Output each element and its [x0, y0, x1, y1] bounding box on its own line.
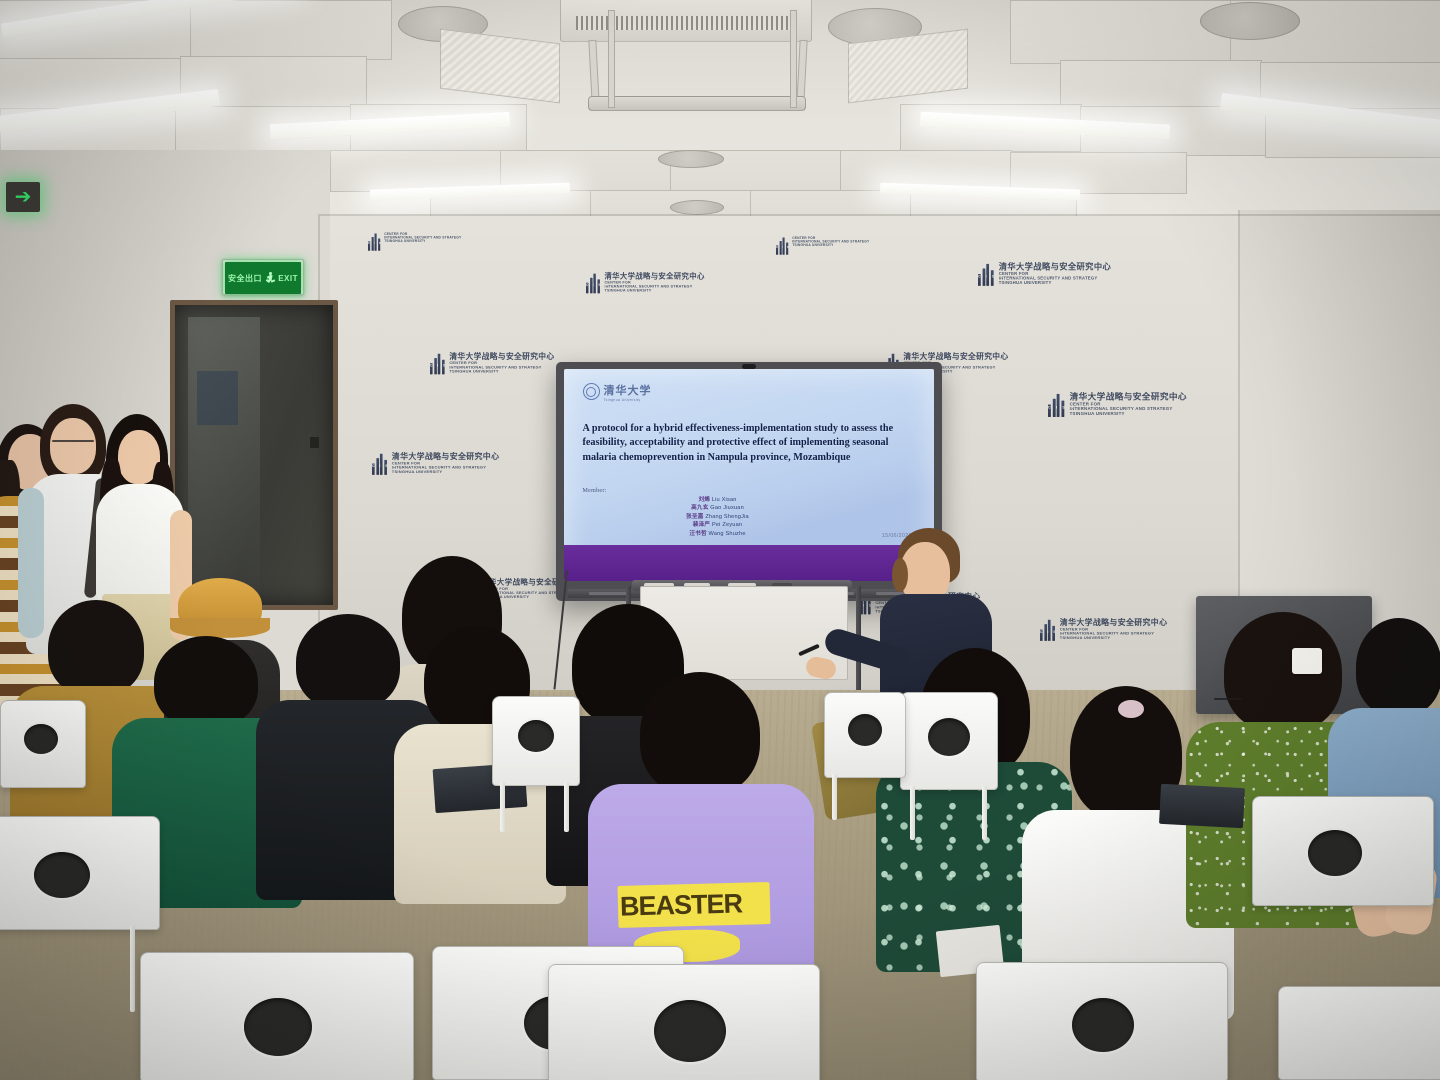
- chair-handle-hole: [244, 998, 312, 1056]
- exit-sign-english: EXIT: [278, 274, 298, 283]
- wall-brand-chinese: 清华大学战略与安全研究中心: [392, 452, 500, 461]
- chair[interactable]: [0, 700, 84, 840]
- chair-handle-hole: [24, 724, 58, 754]
- chair-handle-hole: [1072, 998, 1134, 1052]
- chair[interactable]: [548, 964, 818, 1080]
- chair[interactable]: [140, 952, 412, 1080]
- air-vent: [560, 0, 812, 42]
- ciss-logo-icon: C I S S: [776, 236, 788, 255]
- chair-handle-hole: [848, 714, 882, 746]
- wall-brand-tile: C I S S清华大学战略与安全研究中心CENTER FORINTERNATIO…: [1048, 392, 1187, 417]
- wall-brand-tile: C I S S清华大学战略与安全研究中心CENTER FORINTERNATIO…: [430, 352, 554, 374]
- wall-brand-line3: TSINGHUA UNIVERSITY: [999, 281, 1111, 286]
- projector-mount-arm: [796, 40, 807, 104]
- door-reflection: [197, 371, 238, 425]
- wall-brand-line3: TSINGHUA UNIVERSITY: [1070, 412, 1187, 417]
- hair-claw-clip: [1292, 648, 1322, 674]
- chair-handle-hole: [1308, 830, 1362, 876]
- slide-members-block: Member: 刘烯 Liu Xisan高九玄 Gao Jiuxuan张圣嘉 Z…: [583, 488, 912, 539]
- projector-drop-pole: [790, 10, 797, 108]
- running-man-icon: [266, 272, 275, 285]
- seminar-room-photo: C I S SCENTER FORINTERNATIONAL SECURITY …: [0, 0, 1440, 1080]
- member-label: Member:: [583, 488, 912, 494]
- wall-brand-line3: TSINGHUA UNIVERSITY: [792, 243, 869, 247]
- member-row: 高九玄 Gao Jiuxuan: [583, 504, 853, 513]
- eyeglasses: [1214, 698, 1242, 700]
- projector: [588, 96, 806, 111]
- beaster-text: BEASTER: [620, 888, 743, 922]
- wall-brand-chinese: 清华大学战略与安全研究中心: [449, 352, 554, 361]
- ciss-logo-icon: C I S S: [1040, 618, 1055, 641]
- member-row: 张圣嘉 Zhang ShengJia: [583, 513, 853, 522]
- slide-title: A protocol for a hybrid effectiveness-im…: [583, 422, 916, 465]
- exit-direction-sign: ➔: [6, 182, 40, 212]
- projector-drop-pole: [608, 10, 615, 108]
- ciss-logo-icon: C I S S: [368, 232, 380, 251]
- tsinghua-logo: 清华大学 Tsinghua University: [583, 382, 652, 402]
- wall-brand-chinese: 清华大学战略与安全研究中心: [903, 352, 1008, 361]
- wall-brand-line3: TSINGHUA UNIVERSITY: [604, 289, 704, 293]
- projector-mount-arm: [588, 40, 599, 104]
- door-switch[interactable]: [310, 437, 319, 448]
- acoustic-baffle: [440, 29, 560, 104]
- ciss-logo-icon: C I S S: [372, 452, 387, 475]
- member-row: 裴泽严 Pei Zeyuan: [583, 521, 853, 530]
- wall-brand-line3: TSINGHUA UNIVERSITY: [1060, 636, 1168, 641]
- tsinghua-seal-icon: [583, 383, 600, 400]
- hair-tie: [1118, 700, 1144, 718]
- wall-brand-line3: TSINGHUA UNIVERSITY: [392, 470, 500, 475]
- room-door[interactable]: [170, 300, 338, 610]
- ciss-logo-icon: C I S S: [978, 262, 993, 286]
- member-row: 刘烯 Liu Xisan: [583, 496, 853, 505]
- eyeglasses: [52, 440, 94, 442]
- chair-handle-hole: [34, 852, 90, 898]
- chair[interactable]: [0, 816, 158, 1016]
- wall-brand-chinese: 清华大学战略与安全研究中心: [1060, 618, 1168, 627]
- member-row: 汪书哲 Wang Shuzhe: [583, 530, 853, 539]
- tsinghua-logo-english: Tsinghua University: [604, 398, 652, 402]
- chair[interactable]: [1278, 986, 1440, 1080]
- member-list: 刘烯 Liu Xisan高九玄 Gao Jiuxuan张圣嘉 Zhang She…: [583, 496, 912, 539]
- ceiling-speaker: [1200, 2, 1300, 40]
- chair-handle-hole: [928, 718, 970, 756]
- wall-brand-tile: C I S S清华大学战略与安全研究中心CENTER FORINTERNATIO…: [586, 272, 705, 293]
- wall-brand-chinese: 清华大学战略与安全研究中心: [1070, 392, 1187, 402]
- wall-brand-tile: C I S S清华大学战略与安全研究中心CENTER FORINTERNATIO…: [372, 452, 499, 475]
- ciss-logo-icon: C I S S: [586, 272, 600, 293]
- ciss-logo-icon: C I S S: [430, 352, 444, 374]
- ciss-logo-icon: C I S S: [1048, 392, 1064, 417]
- chair[interactable]: [900, 692, 996, 842]
- cap-brim: [170, 618, 270, 638]
- ceiling-speaker: [658, 150, 724, 168]
- wall-brand-line3: TSINGHUA UNIVERSITY: [384, 239, 461, 243]
- wall-brand-tile: C I S SCENTER FORINTERNATIONAL SECURITY …: [776, 236, 869, 255]
- wall-brand-tile: C I S SCENTER FORINTERNATIONAL SECURITY …: [368, 232, 461, 251]
- wall-brand-tile: C I S S清华大学战略与安全研究中心CENTER FORINTERNATIO…: [978, 262, 1111, 286]
- wall-brand-line3: TSINGHUA UNIVERSITY: [449, 370, 554, 374]
- chair[interactable]: [1252, 796, 1432, 966]
- arrow-icon: ➔: [15, 187, 32, 207]
- chair[interactable]: [976, 962, 1226, 1080]
- chair-handle-hole: [518, 720, 554, 752]
- door-glass-panel: [188, 317, 261, 593]
- wall-brand-tile: C I S S清华大学战略与安全研究中心CENTER FORINTERNATIO…: [1040, 618, 1167, 641]
- wall-brand-chinese: 清华大学战略与安全研究中心: [604, 272, 704, 280]
- chair[interactable]: [824, 692, 904, 822]
- laptop[interactable]: [1159, 784, 1245, 828]
- tsinghua-logo-chinese: 清华大学: [604, 382, 652, 398]
- exit-sign-chinese: 安全出口: [228, 273, 262, 284]
- chair[interactable]: [492, 696, 578, 836]
- wall-brand-chinese: 清华大学战略与安全研究中心: [999, 262, 1111, 271]
- chair-handle-hole: [654, 1000, 726, 1062]
- exit-sign: 安全出口 EXIT: [222, 259, 304, 295]
- ceiling-speaker: [670, 200, 724, 215]
